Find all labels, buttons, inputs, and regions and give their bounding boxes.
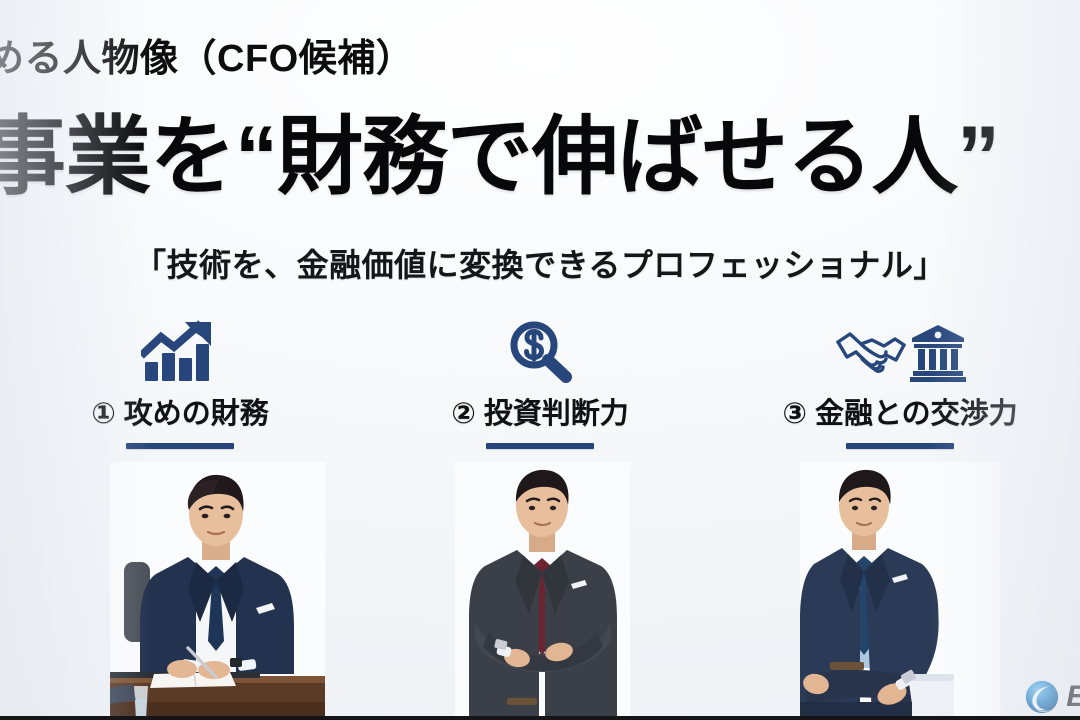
blue-sphere-swoosh-logo [1025,680,1059,714]
pillar-item-2: ② 投資判断力 [360,318,720,468]
page-title: 事業を“財務で伸ばせる人” [0,112,999,202]
pillar-item-3: ③ 金融との交渉力 [720,318,1080,468]
photo-row [0,462,1080,720]
businessman-seated-at-desk-photo [110,462,325,720]
slide-canvas: める人物像（CFO候補） 事業を“財務で伸ばせる人” 「技術を、金融価値に変換で… [0,0,1080,720]
brand-logo: Ea [1025,680,1080,714]
pillar-underline-2 [486,443,594,449]
eyebrow-text: める人物像（CFO候補） [0,27,414,82]
pillar-underline-1 [126,443,234,449]
bottom-letterbox-bar [0,716,1080,720]
pillar-label-2: ② 投資判断力 [451,390,629,432]
businessman-seated-on-stool-photo [800,462,1000,720]
pillar-label-1: ① 攻めの財務 [91,390,269,432]
pillar-label-3: ③ 金融との交渉力 [782,390,1017,432]
growth-bar-chart-arrow-icon [141,318,219,384]
pillar-list: ① 攻めの財務 ② 投資判断力 [0,318,1080,468]
businessman-arms-crossed-photo [455,462,630,720]
subtitle-text: 「技術を、金融価値に変換できるプロフェッショナル」 [0,240,1080,286]
pillar-item-1: ① 攻めの財務 [0,318,360,468]
brand-logo-text: Ea [1066,680,1080,714]
pillar-underline-3 [846,443,954,449]
handshake-bank-icon [834,318,966,384]
magnifier-dollar-icon [504,318,576,384]
